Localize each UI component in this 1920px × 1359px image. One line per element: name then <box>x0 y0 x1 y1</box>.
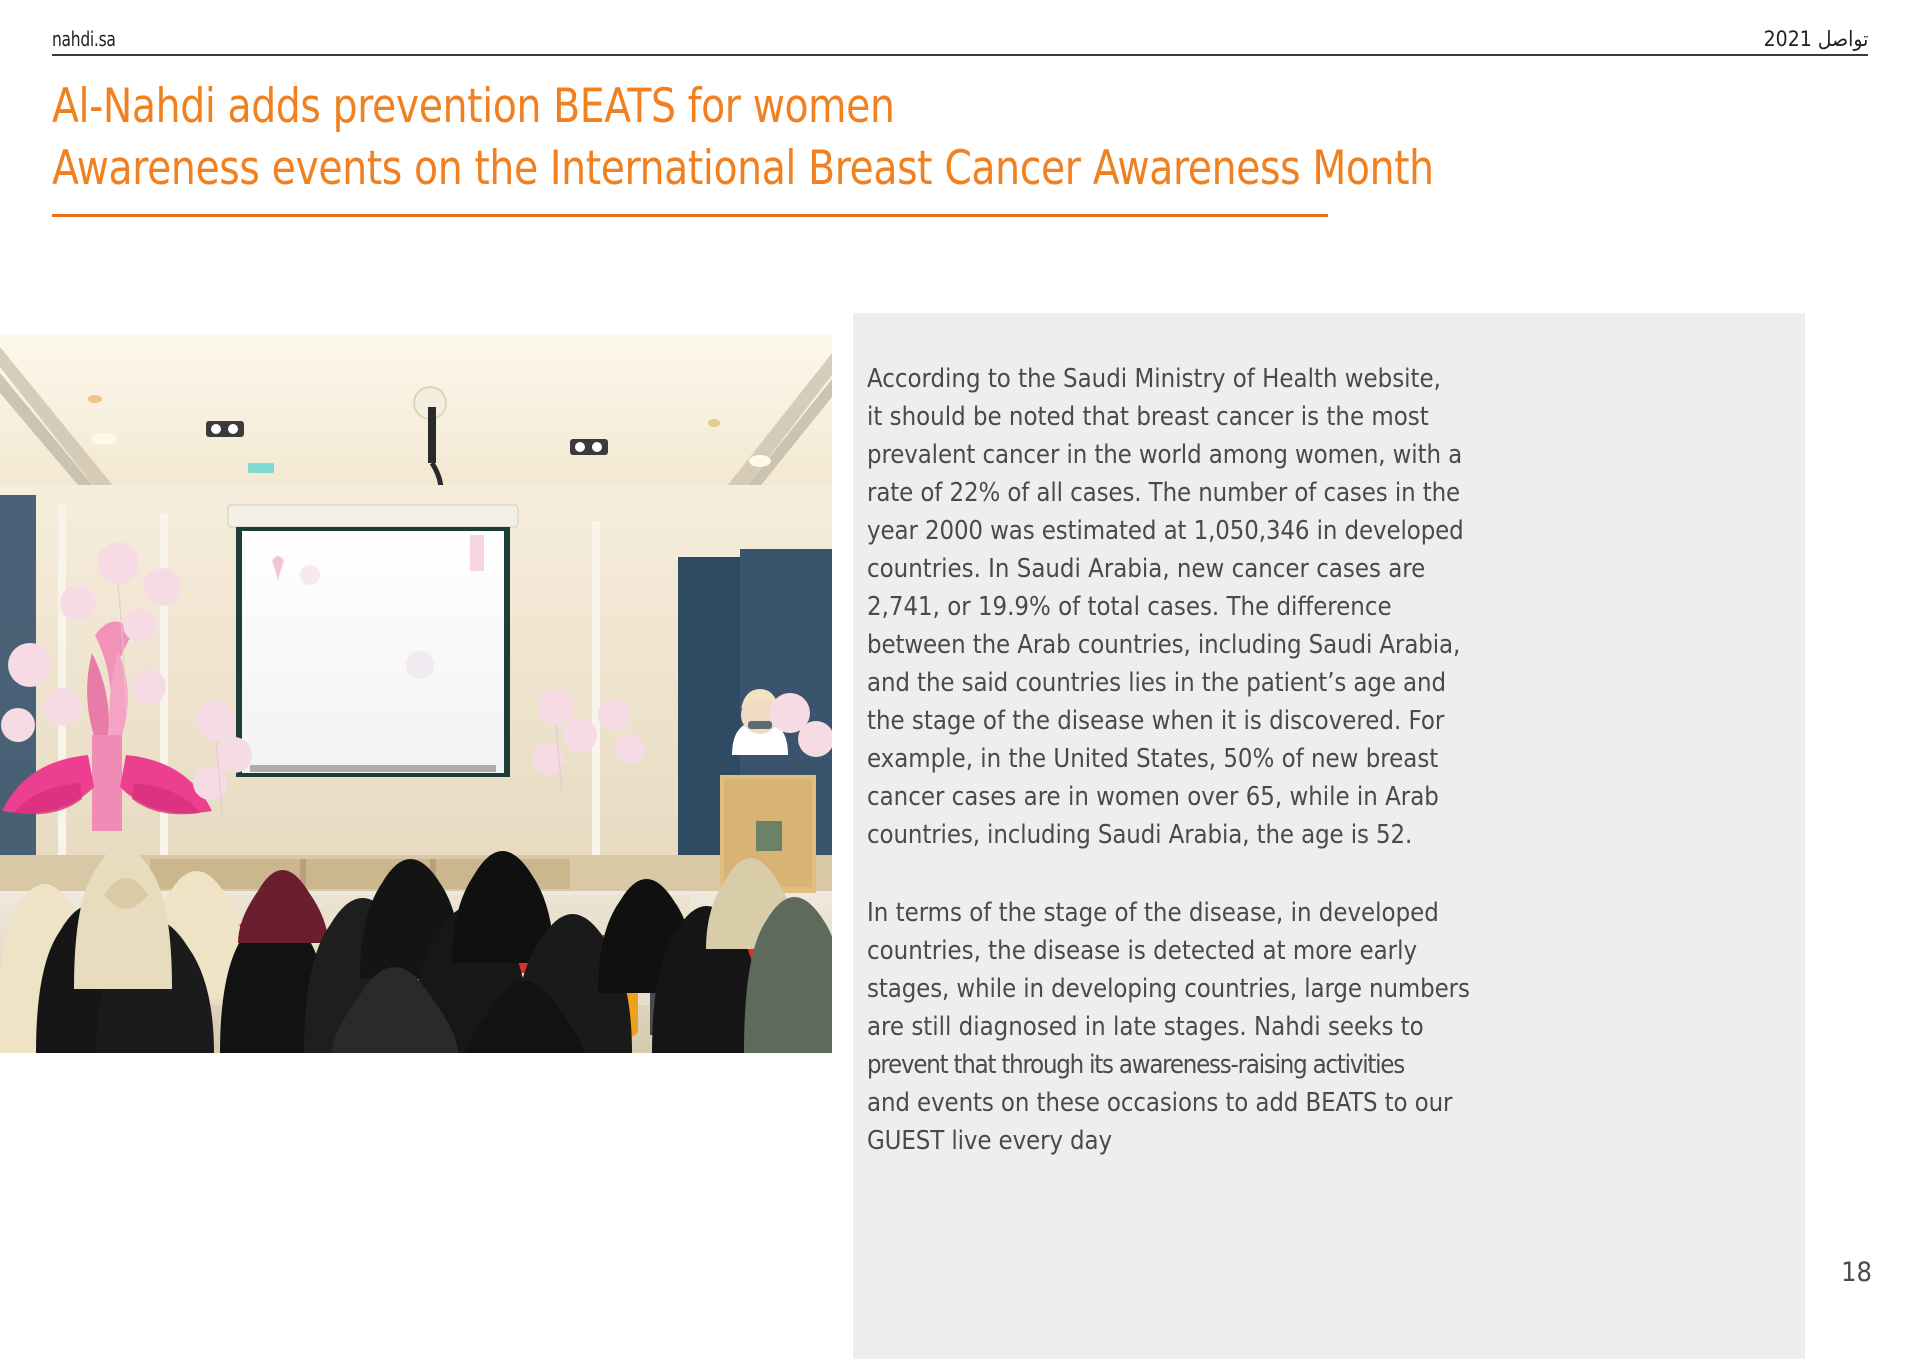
title-line-1: Al-Nahdi adds prevention BEATS for women <box>52 76 1726 138</box>
paragraph-2-line: and events on these occasions to add BEA… <box>867 1084 1467 1122</box>
paragraph-2-line: GUEST live every day <box>867 1122 1467 1160</box>
paragraph-2: In terms of the stage of the disease, in… <box>867 894 1467 1160</box>
site-label: nahdi.sa <box>52 27 116 51</box>
paragraph-2-line: are still diagnosed in late stages. Nahd… <box>867 1008 1467 1046</box>
paragraph-1-line: cancer cases are in women over 65, while… <box>867 778 1467 816</box>
title-line-2: Awareness events on the International Br… <box>52 138 1726 200</box>
page-header: nahdi.sa تواصل 2021 <box>52 22 1868 56</box>
slide-page: nahdi.sa تواصل 2021 Al-Nahdi adds preven… <box>0 0 1920 1359</box>
paragraph-1-line: the stage of the disease when it is disc… <box>867 702 1467 740</box>
page-number: 18 <box>1841 1257 1872 1288</box>
page-title: Al-Nahdi adds prevention BEATS for women… <box>52 76 1852 200</box>
paragraph-1-line: and the said countries lies in the patie… <box>867 664 1467 702</box>
paragraph-2-line: countries, the disease is detected at mo… <box>867 932 1467 970</box>
paragraph-1-line: countries. In Saudi Arabia, new cancer c… <box>867 550 1467 588</box>
paragraph-1-line: 2,741, or 19.9% of total cases. The diff… <box>867 588 1467 626</box>
paragraph-1-line: According to the Saudi Ministry of Healt… <box>867 360 1467 398</box>
paragraph-2-line: stages, while in developing countries, l… <box>867 970 1467 1008</box>
paragraph-spacer <box>867 854 1467 894</box>
paragraph-1-line: prevalent cancer in the world among wome… <box>867 436 1467 474</box>
article-text-inner: According to the Saudi Ministry of Healt… <box>867 360 1467 1160</box>
edition-label: تواصل 2021 <box>1763 27 1868 51</box>
paragraph-1-line: between the Arab countries, including Sa… <box>867 626 1467 664</box>
paragraph-1: According to the Saudi Ministry of Healt… <box>867 360 1467 854</box>
article-text-panel: According to the Saudi Ministry of Healt… <box>853 313 1805 1359</box>
paragraph-2-line: prevent that through its awareness-raisi… <box>867 1046 1467 1084</box>
paragraph-1-line: it should be noted that breast cancer is… <box>867 398 1467 436</box>
paragraph-1-line: year 2000 was estimated at 1,050,346 in … <box>867 512 1467 550</box>
paragraph-1-line: rate of 22% of all cases. The number of … <box>867 474 1467 512</box>
event-photo-illustration <box>0 335 832 1053</box>
event-photo <box>0 335 832 1053</box>
paragraph-1-line: countries, including Saudi Arabia, the a… <box>867 816 1467 854</box>
title-underline-rule <box>52 214 1328 217</box>
paragraph-2-line: In terms of the stage of the disease, in… <box>867 894 1467 932</box>
paragraph-1-line: example, in the United States, 50% of ne… <box>867 740 1467 778</box>
